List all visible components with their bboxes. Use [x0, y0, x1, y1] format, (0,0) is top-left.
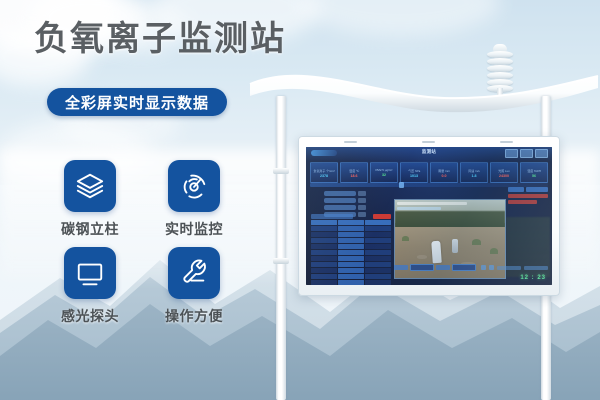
- pole-bracket: [273, 168, 289, 174]
- metric-label: 负氧离子 个/cm³: [313, 168, 334, 173]
- page-title: 负氧离子监测站: [34, 22, 286, 56]
- feature-tile: [64, 247, 116, 299]
- video-treeline: [395, 211, 505, 228]
- alarm-action[interactable]: [526, 187, 548, 192]
- alarm-title: [508, 187, 524, 192]
- table-cell: [311, 226, 337, 231]
- video-osd-line: [397, 207, 441, 210]
- data-table: [311, 213, 391, 285]
- led-display-screen[interactable]: 监测站 负氧离子 个/cm³2378温度 ℃18.6PM2.5 μg/m³32气…: [306, 147, 552, 285]
- table-cell: [311, 268, 337, 273]
- table-row: [311, 226, 391, 231]
- control-dropdown[interactable]: [452, 264, 476, 271]
- video-texture: [417, 255, 427, 259]
- metric-card: 雨量 mm0.0: [430, 162, 458, 183]
- table-column-header: [338, 220, 364, 225]
- table-cell: [338, 250, 364, 255]
- metric-value: 32: [382, 173, 386, 177]
- feature-label: 感光探头: [61, 306, 119, 326]
- metric-card: 光照 Lux24300: [490, 162, 518, 183]
- dashboard-title: 监测站: [422, 149, 436, 155]
- metric-value: 56: [532, 174, 536, 178]
- metric-card: 气压 hPa1013: [400, 162, 428, 183]
- video-osd-line: [397, 202, 467, 205]
- status-readout: [497, 266, 521, 270]
- feature-grid: 碳钢立柱 实时监控 感光探头: [42, 160, 242, 326]
- stat-pill-value: [358, 191, 366, 196]
- table-cell: [311, 250, 337, 255]
- table-cell: [365, 274, 391, 279]
- table-cell: [338, 226, 364, 231]
- stat-pill-value: [358, 198, 366, 203]
- table-cell: [338, 238, 364, 243]
- feature-label: 碳钢立柱: [61, 219, 119, 239]
- table-cell: [338, 232, 364, 237]
- display-screen-frame: 监测站 负氧离子 个/cm³2378温度 ℃18.6PM2.5 μg/m³32气…: [298, 136, 560, 296]
- table-cell: [365, 226, 391, 231]
- feature-tile: [168, 247, 220, 299]
- table-title: [311, 214, 353, 219]
- table-column-header: [311, 220, 337, 225]
- monitor-icon: [75, 258, 105, 288]
- table-row: [311, 232, 391, 237]
- dashboard-header: 监测站: [306, 147, 552, 161]
- feature-item-steel-pole[interactable]: 碳钢立柱: [42, 160, 138, 239]
- metric-card: 风速 m/s1.8: [460, 162, 488, 183]
- table-cell: [338, 256, 364, 261]
- table-cell: [338, 244, 364, 249]
- toolbar-button[interactable]: [520, 149, 533, 158]
- dashboard-logo: [311, 150, 337, 156]
- stat-pill: [324, 205, 384, 210]
- table-row: [311, 268, 391, 273]
- stat-pill-label: [324, 205, 356, 210]
- stat-pill-value: [358, 205, 366, 210]
- metric-label: 温度 ℃: [349, 168, 359, 173]
- toolbar-button[interactable]: [505, 149, 518, 158]
- stat-pill: [324, 191, 384, 196]
- metric-card: 温度 ℃18.6: [340, 162, 368, 183]
- video-grass: [490, 248, 498, 254]
- metric-label: 风速 m/s: [468, 168, 479, 173]
- support-pole-left: [276, 96, 286, 400]
- metric-label: 雨量 mm: [438, 168, 450, 173]
- table-alarm-badge: [373, 214, 391, 219]
- table-cell: [311, 256, 337, 261]
- table-column-headers: [311, 220, 391, 225]
- video-grass: [402, 236, 409, 241]
- layers-icon: [75, 171, 105, 201]
- table-cell: [365, 244, 391, 249]
- vent-slot: [422, 141, 435, 143]
- feature-tile: [168, 160, 220, 212]
- metric-value: 1013: [410, 174, 418, 178]
- video-subject: [452, 239, 458, 253]
- wrench-icon: [179, 258, 209, 288]
- metric-label: 湿度 %RH: [527, 168, 541, 173]
- alarm-header: [508, 187, 548, 192]
- table-column-header: [365, 220, 391, 225]
- feature-label: 实时监控: [165, 219, 223, 239]
- radar-monitor-icon: [179, 171, 209, 201]
- metric-card-list: 负氧离子 个/cm³2378温度 ℃18.6PM2.5 μg/m³32气压 hP…: [310, 162, 548, 183]
- vent-slot: [500, 141, 513, 143]
- table-row: [311, 244, 391, 249]
- alarm-panel: [508, 187, 548, 215]
- status-number: 12 : 23: [520, 275, 546, 281]
- promo-banner: 监测站 负氧离子 个/cm³2378温度 ℃18.6PM2.5 μg/m³32气…: [0, 0, 600, 400]
- metric-card: PM2.5 μg/m³32: [370, 162, 398, 183]
- alarm-row: [508, 194, 548, 198]
- metric-value: 1.8: [472, 174, 477, 178]
- subtitle-badge-label: 全彩屏实时显示数据: [65, 92, 209, 113]
- playback-controls[interactable]: [481, 265, 548, 270]
- table-cell: [311, 232, 337, 237]
- feature-item-easy-operation[interactable]: 操作方便: [146, 247, 242, 326]
- table-cell: [365, 232, 391, 237]
- control-label: [436, 265, 450, 270]
- table-row: [311, 238, 391, 243]
- table-row: [311, 280, 391, 285]
- stat-pill: [324, 198, 384, 203]
- pole-bracket: [273, 258, 289, 264]
- dashboard: 监测站 负氧离子 个/cm³2378温度 ℃18.6PM2.5 μg/m³32气…: [306, 147, 552, 285]
- feature-tile: [64, 160, 116, 212]
- metric-value: 18.6: [351, 174, 358, 178]
- feature-item-light-sensor[interactable]: 感光探头: [42, 247, 138, 326]
- subtitle-badge: 全彩屏实时显示数据: [47, 88, 227, 116]
- pause-button[interactable]: [489, 265, 494, 270]
- metric-card: 湿度 %RH56: [520, 162, 548, 183]
- feature-label: 操作方便: [165, 306, 223, 326]
- table-body: [311, 226, 391, 285]
- metric-label: PM2.5 μg/m³: [376, 168, 393, 172]
- feature-item-realtime-monitor[interactable]: 实时监控: [146, 160, 242, 239]
- table-cell: [365, 280, 391, 285]
- metric-label: 光照 Lux: [498, 168, 509, 173]
- table-cell: [311, 274, 337, 279]
- table-row: [311, 274, 391, 279]
- metric-value: 2378: [320, 174, 328, 178]
- table-cell: [338, 274, 364, 279]
- stat-pill-label: [324, 198, 356, 203]
- control-dropdown[interactable]: [410, 264, 434, 271]
- divider-marker-icon: [399, 182, 404, 188]
- video-grass: [472, 239, 481, 245]
- table-cell: [311, 280, 337, 285]
- alarm-row: [508, 200, 537, 204]
- table-cell: [365, 250, 391, 255]
- metric-label: 气压 hPa: [408, 168, 420, 173]
- dashboard-toolbar[interactable]: [505, 149, 548, 158]
- metric-value: 0.0: [442, 174, 447, 178]
- table-cell: [338, 262, 364, 267]
- metric-value: 24300: [499, 174, 509, 178]
- table-cell: [365, 256, 391, 261]
- table-cell: [311, 238, 337, 243]
- table-row: [311, 262, 391, 267]
- table-cell: [338, 268, 364, 273]
- table-header-bar: [311, 213, 391, 219]
- toolbar-button[interactable]: [535, 149, 548, 158]
- table-row: [311, 250, 391, 255]
- stat-pill-label: [324, 191, 356, 196]
- play-button[interactable]: [481, 265, 486, 270]
- control-label: [394, 265, 408, 270]
- status-readout: [524, 266, 548, 270]
- table-cell: [365, 238, 391, 243]
- metric-card: 负氧离子 个/cm³2378: [310, 162, 338, 183]
- table-cell: [338, 280, 364, 285]
- table-row: [311, 256, 391, 261]
- table-cell: [365, 262, 391, 267]
- table-cell: [311, 262, 337, 267]
- vent-slot: [344, 141, 357, 143]
- table-cell: [311, 244, 337, 249]
- table-cell: [365, 268, 391, 273]
